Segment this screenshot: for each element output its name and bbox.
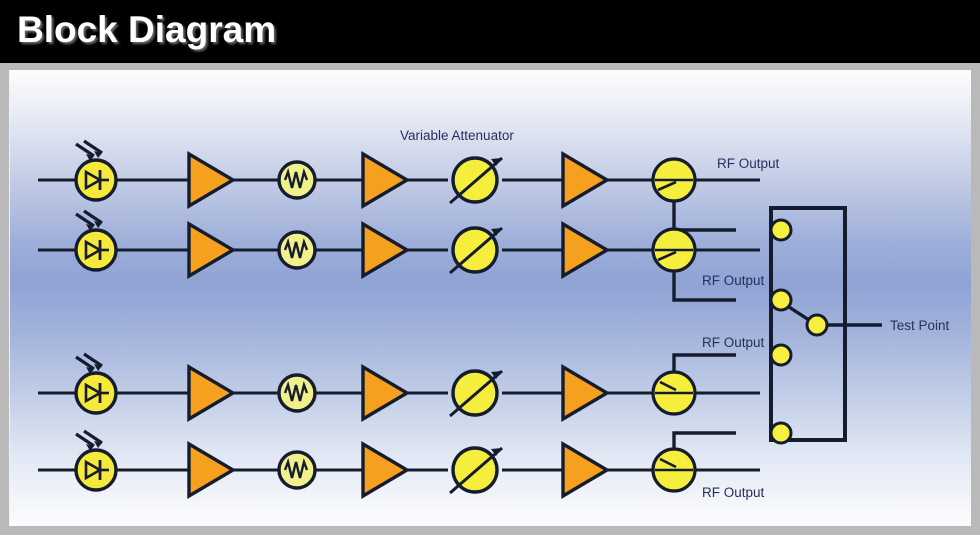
page-title: Block Diagram bbox=[17, 9, 276, 51]
amplifier-2b bbox=[363, 224, 407, 276]
amplifier-2a bbox=[189, 224, 233, 276]
variable-attenuator-4 bbox=[450, 448, 502, 493]
channel-3-tap-route bbox=[674, 355, 736, 372]
diagram-panel-frame: RF Output bbox=[0, 63, 980, 535]
directional-coupler-4 bbox=[653, 449, 695, 491]
rf-output-label-2: RF Output bbox=[702, 273, 765, 288]
switch-contact-1[interactable] bbox=[771, 220, 791, 240]
switch-pole-contact[interactable] bbox=[807, 315, 827, 335]
channel-4-tap-route bbox=[674, 433, 736, 449]
switch-wiper[interactable] bbox=[789, 307, 809, 320]
variable-attenuator-1 bbox=[450, 158, 502, 203]
rf-output-label-4: RF Output bbox=[702, 485, 765, 500]
fixed-attenuator-3 bbox=[279, 375, 315, 411]
amplifier-4c bbox=[563, 444, 607, 496]
photodiode-4 bbox=[76, 431, 116, 490]
amplifier-3b bbox=[363, 367, 407, 419]
variable-attenuator-3 bbox=[450, 371, 502, 416]
test-point-label: Test Point bbox=[890, 318, 950, 333]
photodiode-1 bbox=[76, 141, 116, 200]
amplifier-3a bbox=[189, 367, 233, 419]
fixed-attenuator-1 bbox=[279, 162, 315, 198]
amplifier-3c bbox=[563, 367, 607, 419]
amplifier-1a bbox=[189, 154, 233, 206]
amplifier-1b bbox=[363, 154, 407, 206]
rf-output-label-1: RF Output bbox=[717, 156, 780, 171]
amplifier-4b bbox=[363, 444, 407, 496]
variable-attenuator-label: Variable Attenuator bbox=[400, 128, 514, 143]
rf-output-label-3: RF Output bbox=[702, 335, 765, 350]
light-arrows-3 bbox=[76, 354, 102, 374]
rotary-switch[interactable]: Test Point bbox=[771, 208, 950, 443]
photodiode-3 bbox=[76, 354, 116, 413]
directional-coupler-3 bbox=[653, 372, 695, 414]
title-bar: Block Diagram bbox=[0, 0, 980, 63]
variable-attenuator-2 bbox=[450, 228, 502, 273]
switch-contact-4[interactable] bbox=[771, 423, 791, 443]
amplifier-1c bbox=[563, 154, 607, 206]
photodiode-2 bbox=[76, 211, 116, 270]
channel-3-group: RF Output bbox=[38, 335, 765, 419]
switch-contact-2[interactable] bbox=[771, 290, 791, 310]
channel-4-group: RF Output bbox=[38, 431, 765, 500]
block-diagram-svg: RF Output bbox=[10, 70, 971, 526]
switch-contact-3[interactable] bbox=[771, 345, 791, 365]
channel-2-group: RF Output bbox=[38, 211, 765, 300]
amplifier-2c bbox=[563, 224, 607, 276]
light-arrows-1 bbox=[76, 141, 102, 161]
diagram-canvas: RF Output bbox=[9, 70, 971, 526]
screenshot-root: Block Diagram bbox=[0, 0, 980, 535]
channel-1-group: RF Output bbox=[38, 141, 780, 230]
light-arrows-2 bbox=[76, 211, 102, 231]
directional-coupler-1 bbox=[653, 159, 695, 201]
fixed-attenuator-4 bbox=[279, 452, 315, 488]
fixed-attenuator-2 bbox=[279, 232, 315, 268]
amplifier-4a bbox=[189, 444, 233, 496]
directional-coupler-2 bbox=[653, 229, 695, 271]
light-arrows-4 bbox=[76, 431, 102, 451]
channel-1-tap-route bbox=[674, 201, 736, 230]
